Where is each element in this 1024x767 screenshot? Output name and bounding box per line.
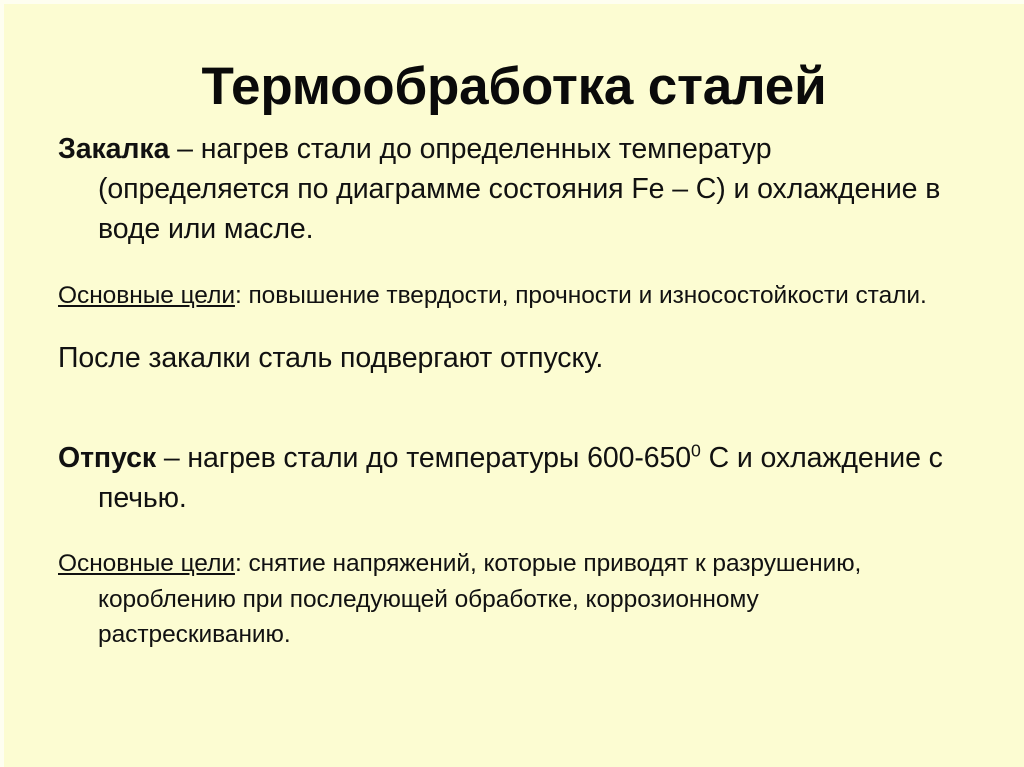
paragraph-quenching: Закалка – нагрев стали до определенных т… bbox=[58, 129, 958, 249]
degree-superscript: 0 bbox=[691, 440, 701, 460]
paragraph-quenching-goals-text: : повышение твердости, прочности и износ… bbox=[235, 282, 927, 309]
term-otpusk: Отпуск bbox=[58, 442, 156, 474]
slide-body: Закалка – нагрев стали до определенных т… bbox=[58, 129, 958, 677]
paragraph-after-quenching: После закалки сталь подвергают отпуску. bbox=[58, 338, 958, 378]
page-title: Термообработка сталей bbox=[4, 57, 1024, 116]
paragraph-tempering: Отпуск – нагрев стали до температуры 600… bbox=[58, 438, 958, 518]
paragraph-tempering-text-before: – нагрев стали до температуры 600-650 bbox=[156, 442, 691, 474]
paragraph-quenching-goals: Основные цели: повышение твердости, проч… bbox=[58, 278, 958, 314]
label-main-goals-tempering: Основные цели bbox=[58, 550, 235, 577]
paragraph-after-quenching-text: После закалки сталь подвергают отпуску. bbox=[58, 342, 603, 374]
label-main-goals-quenching: Основные цели bbox=[58, 282, 235, 309]
paragraph-quenching-text: – нагрев стали до определенных температу… bbox=[98, 133, 940, 245]
paragraph-tempering-goals: Основные цели: снятие напряжений, которы… bbox=[58, 546, 958, 653]
slide-canvas: Термообработка сталей Закалка – нагрев с… bbox=[0, 0, 1024, 767]
term-zakalka: Закалка bbox=[58, 133, 169, 165]
